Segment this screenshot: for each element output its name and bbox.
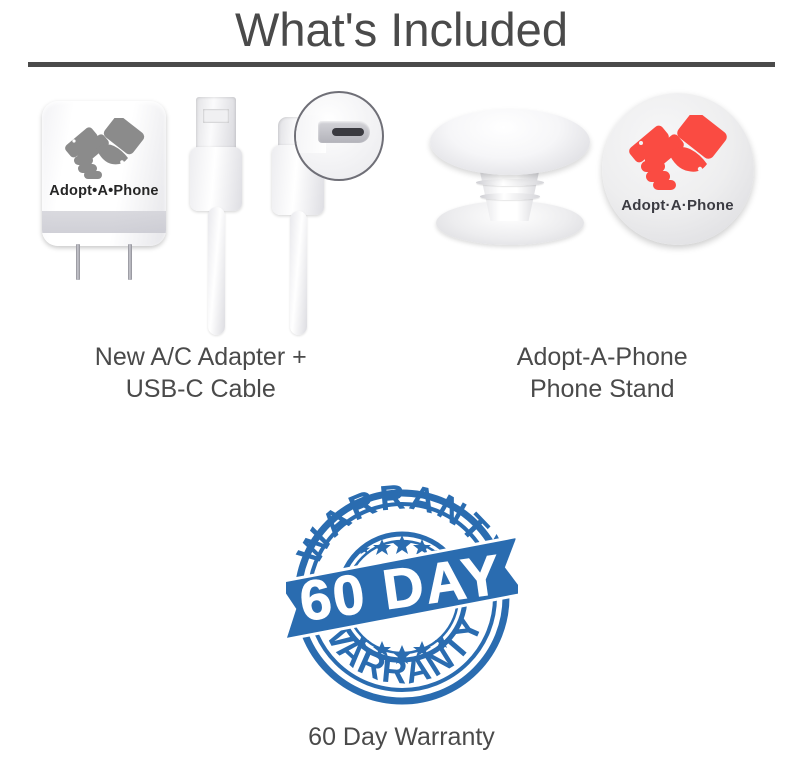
warranty-section: WARRANTY WARRANTY — [0, 483, 803, 753]
ac-adapter-figure: Adopt•A•Phone — [0, 73, 402, 335]
stand-top-disc — [430, 109, 590, 175]
inset-connector-tip — [318, 121, 370, 143]
pop-socket-stand-icon — [430, 109, 590, 257]
usb-c-cable-icon — [182, 89, 372, 335]
stand-rib — [476, 179, 544, 186]
product-card-ac-adapter[interactable]: Adopt•A•Phone New A/C Adapter + USB- — [0, 73, 402, 405]
phone-stand-figure: Adopt·A·Phone — [402, 73, 803, 335]
stand-wordmark: Adopt·A·Phone — [602, 197, 754, 214]
stand-rib — [480, 193, 540, 200]
cable-cord-a — [208, 207, 225, 335]
handshake-logo-icon — [62, 118, 146, 180]
title-divider — [28, 62, 775, 67]
handshake-logo-disc-icon: Adopt·A·Phone — [602, 93, 754, 245]
product-caption-ac-adapter: New A/C Adapter + USB-C Cable — [95, 341, 307, 405]
warranty-stamp-graphic: WARRANTY WARRANTY — [286, 483, 518, 711]
adapter-body: Adopt•A•Phone — [42, 101, 166, 246]
ac-wall-adapter-icon: Adopt•A•Phone — [42, 101, 166, 271]
warranty-badge-icon: WARRANTY WARRANTY — [286, 483, 518, 711]
adapter-wordmark: Adopt•A•Phone — [42, 183, 166, 199]
adapter-prong-right — [128, 244, 132, 280]
product-row: Adopt•A•Phone New A/C Adapter + USB- — [0, 73, 803, 405]
product-caption-phone-stand: Adopt-A-Phone Phone Stand — [517, 341, 688, 405]
usb-c-closeup-inset-icon — [294, 91, 384, 181]
adapter-seam — [42, 211, 166, 233]
page-header: What's Included — [0, 0, 803, 67]
handshake-logo-icon — [626, 115, 730, 193]
page-title: What's Included — [0, 2, 803, 58]
adapter-prong-left — [76, 244, 80, 280]
usb-a-shell — [190, 147, 242, 211]
product-card-phone-stand[interactable]: Adopt·A·Phone Adopt-A-Phone Phone Stand — [402, 73, 803, 405]
cable-cord-c — [290, 211, 307, 335]
warranty-caption: 60 Day Warranty — [0, 721, 803, 753]
